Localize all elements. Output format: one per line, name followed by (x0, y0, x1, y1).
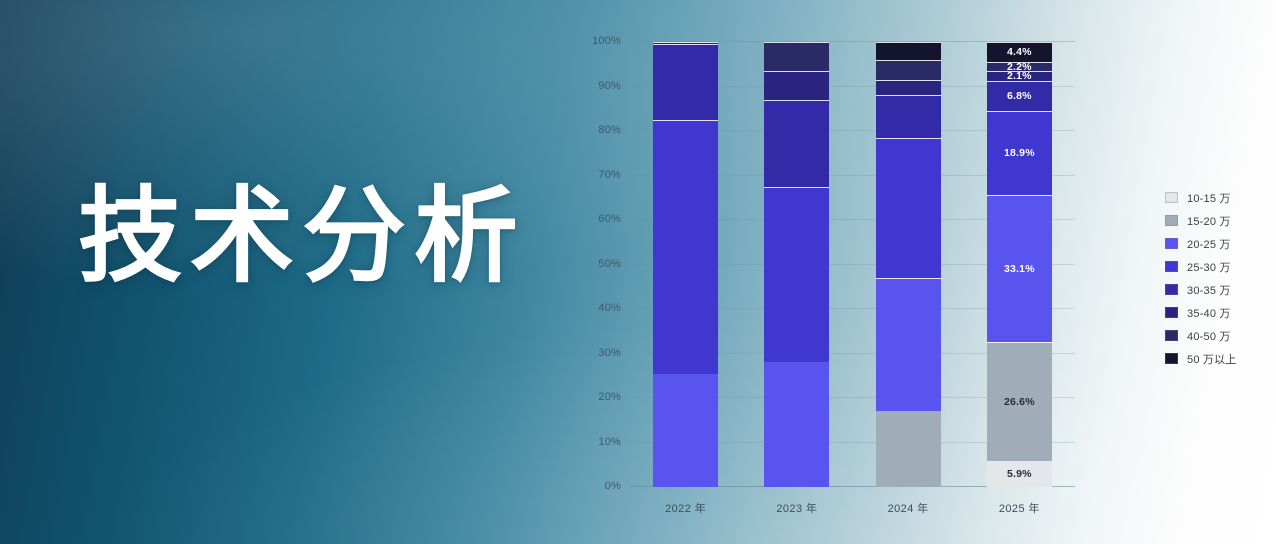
legend-item[interactable]: 15-20 万 (1165, 209, 1270, 232)
legend-item-label: 10-15 万 (1187, 190, 1231, 206)
stacked-bar[interactable] (876, 42, 941, 487)
bar-segment[interactable] (876, 80, 941, 96)
bar-segment[interactable] (653, 44, 718, 120)
legend-item[interactable]: 50 万以上 (1165, 347, 1270, 370)
bar-segment-label: 2.2% (1007, 62, 1032, 72)
legend-item-label: 25-30 万 (1187, 259, 1231, 275)
stacked-bar[interactable] (653, 42, 718, 487)
y-axis-tick-label: 0% (605, 480, 621, 492)
bar-segment[interactable] (876, 138, 941, 278)
bar-segment[interactable] (876, 411, 941, 487)
bar-segment[interactable]: 18.9% (987, 111, 1052, 195)
x-axis-tick-label: 2022 年 (665, 500, 706, 516)
bar-segment[interactable]: 4.4% (987, 42, 1052, 62)
bar-segment[interactable] (653, 120, 718, 374)
stacked-bar[interactable]: 5.9%26.6%33.1%18.9%6.8%2.1%2.2%4.4% (987, 42, 1052, 487)
y-axis-tick-label: 20% (598, 391, 621, 403)
legend-item-label: 30-35 万 (1187, 282, 1231, 298)
bar-segment[interactable]: 6.8% (987, 81, 1052, 111)
x-axis-tick-label: 2023 年 (776, 500, 817, 516)
legend-item[interactable]: 20-25 万 (1165, 232, 1270, 255)
bar-column[interactable]: 5.9%26.6%33.1%18.9%6.8%2.1%2.2%4.4%2025 … (987, 42, 1052, 487)
y-axis-tick-label: 60% (598, 213, 621, 225)
stacked-bar[interactable] (764, 42, 829, 487)
legend-item[interactable]: 35-40 万 (1165, 301, 1270, 324)
bar-column[interactable]: 2024 年 (876, 42, 941, 487)
y-axis-tick-label: 50% (598, 258, 621, 270)
legend-item[interactable]: 40-50 万 (1165, 324, 1270, 347)
y-axis-tick-label: 90% (598, 80, 621, 92)
bar-column[interactable]: 2022 年 (653, 42, 718, 487)
legend-swatch-icon (1165, 330, 1178, 341)
bar-segment[interactable] (764, 100, 829, 187)
bar-segment[interactable] (764, 187, 829, 363)
bar-column[interactable]: 2023 年 (764, 42, 829, 487)
bar-segment-label: 2.1% (1007, 71, 1032, 80)
bar-segment[interactable] (876, 42, 941, 60)
bar-segment[interactable] (764, 71, 829, 100)
legend-swatch-icon (1165, 192, 1178, 203)
legend-item-label: 35-40 万 (1187, 305, 1231, 321)
legend-swatch-icon (1165, 307, 1178, 318)
x-axis-tick-label: 2024 年 (888, 500, 929, 516)
bar-segment[interactable]: 2.1% (987, 71, 1052, 80)
y-axis-tick-label: 70% (598, 169, 621, 181)
bar-segment[interactable]: 5.9% (987, 461, 1052, 487)
chart-legend: 10-15 万15-20 万20-25 万25-30 万30-35 万35-40… (1165, 186, 1270, 370)
x-axis-tick-label: 2025 年 (999, 500, 1040, 516)
legend-item[interactable]: 30-35 万 (1165, 278, 1270, 301)
bar-segment[interactable] (876, 60, 941, 80)
bar-segment[interactable]: 2.2% (987, 62, 1052, 72)
y-axis-tick-label: 10% (598, 436, 621, 448)
y-axis-tick-label: 80% (598, 124, 621, 136)
y-axis-tick-label: 30% (598, 347, 621, 359)
page-title: 技术分析 (78, 181, 526, 293)
legend-swatch-icon (1165, 261, 1178, 272)
bar-segment[interactable] (876, 278, 941, 412)
bar-segment-label: 18.9% (1004, 148, 1035, 159)
legend-item[interactable]: 10-15 万 (1165, 186, 1270, 209)
bar-segment[interactable] (653, 42, 718, 44)
legend-swatch-icon (1165, 353, 1178, 364)
legend-item-label: 40-50 万 (1187, 328, 1231, 344)
bar-segment[interactable]: 33.1% (987, 195, 1052, 342)
y-axis-tick-label: 100% (592, 35, 621, 47)
chart-plot-area: 0%10%20%30%40%50%60%70%80%90%100%2022 年2… (630, 42, 1075, 487)
bar-segment[interactable]: 26.6% (987, 342, 1052, 460)
bar-segment-label: 33.1% (1004, 264, 1035, 275)
legend-swatch-icon (1165, 215, 1178, 226)
legend-item-label: 50 万以上 (1187, 351, 1237, 367)
legend-item-label: 15-20 万 (1187, 213, 1231, 229)
bar-segment-label: 4.4% (1007, 47, 1032, 58)
legend-item[interactable]: 25-30 万 (1165, 255, 1270, 278)
bar-segment[interactable] (653, 374, 718, 487)
bar-segment[interactable] (764, 362, 829, 487)
bar-segment-label: 6.8% (1007, 91, 1032, 102)
legend-item-label: 20-25 万 (1187, 236, 1231, 252)
bar-segment-label: 5.9% (1007, 469, 1032, 480)
bar-segment[interactable] (764, 42, 829, 71)
legend-swatch-icon (1165, 284, 1178, 295)
bar-segment[interactable] (876, 95, 941, 137)
bar-segment-label: 26.6% (1004, 397, 1035, 408)
y-axis-tick-label: 40% (598, 302, 621, 314)
legend-swatch-icon (1165, 238, 1178, 249)
